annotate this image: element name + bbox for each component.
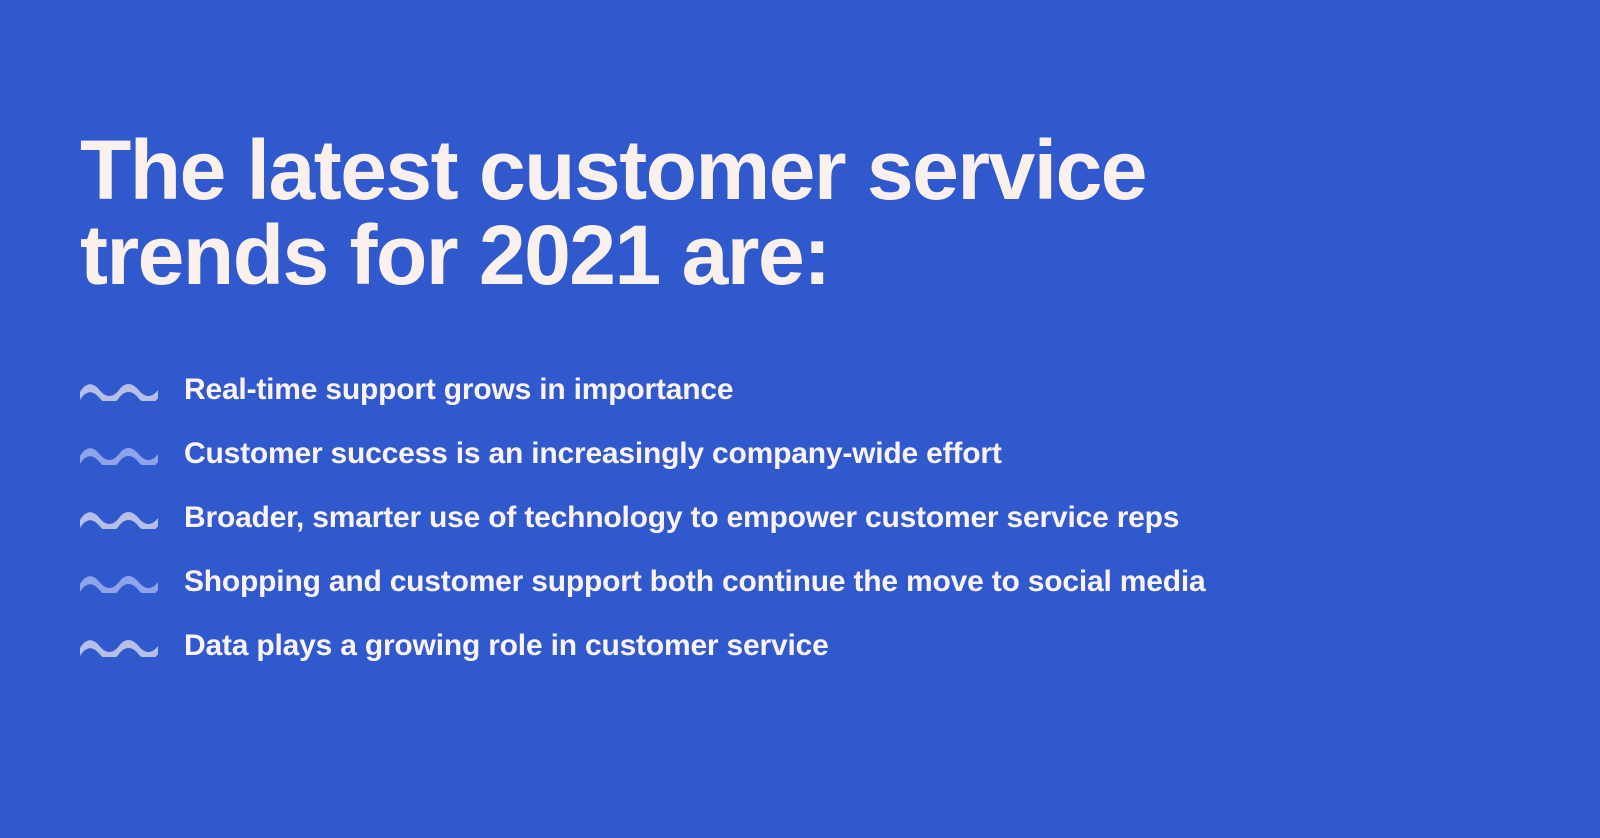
list-item-label: Data plays a growing role in customer se…	[184, 629, 829, 663]
list-item: Data plays a growing role in customer se…	[80, 614, 1540, 678]
wavy-line-icon	[80, 507, 158, 529]
trends-list: Real-time support grows in importance Cu…	[80, 358, 1540, 678]
page-title: The latest customer service trends for 2…	[80, 128, 1480, 298]
list-item-label: Broader, smarter use of technology to em…	[184, 501, 1179, 535]
list-item-label: Customer success is an increasingly comp…	[184, 437, 1002, 471]
wavy-line-icon	[80, 443, 158, 465]
list-item: Customer success is an increasingly comp…	[80, 422, 1540, 486]
wavy-line-icon	[80, 379, 158, 401]
list-item: Broader, smarter use of technology to em…	[80, 486, 1540, 550]
list-item-label: Real-time support grows in importance	[184, 373, 733, 407]
wavy-line-icon	[80, 635, 158, 657]
list-item: Real-time support grows in importance	[80, 358, 1540, 422]
list-item-label: Shopping and customer support both conti…	[184, 565, 1205, 599]
poster-canvas: The latest customer service trends for 2…	[0, 0, 1600, 838]
list-item: Shopping and customer support both conti…	[80, 550, 1540, 614]
wavy-line-icon	[80, 571, 158, 593]
